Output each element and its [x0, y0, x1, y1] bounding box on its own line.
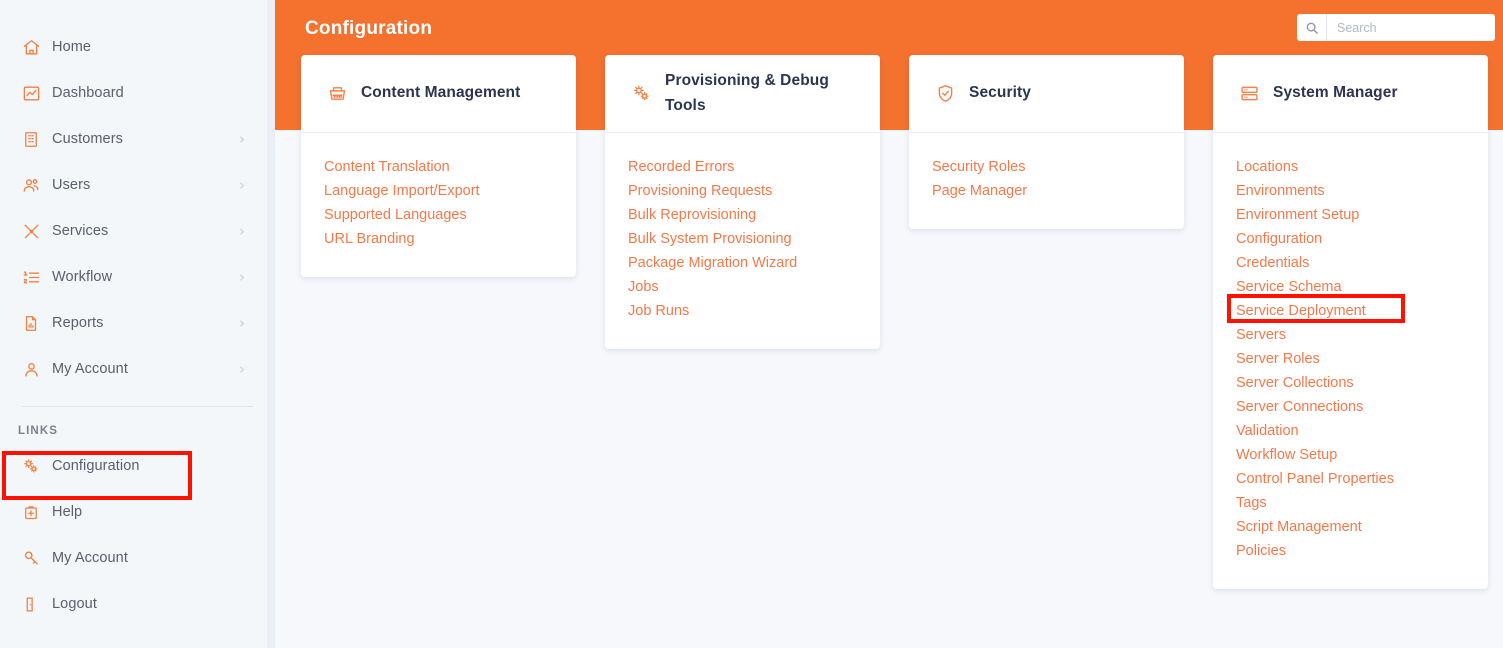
sidebar-item-my-account[interactable]: My Account ›: [0, 346, 275, 392]
report-icon: [18, 312, 44, 334]
card-link[interactable]: Environment Setup: [1236, 203, 1466, 227]
card-links: Locations Environments Environment Setup…: [1213, 133, 1488, 589]
card-title: Security: [969, 81, 1031, 106]
card-header: Security: [909, 55, 1184, 133]
sidebar-item-customers[interactable]: Customers ›: [0, 116, 275, 162]
sidebar: Home Dashboard Customers ›: [0, 0, 275, 648]
card-title: System Manager: [1273, 81, 1398, 106]
main-content: Configuration: [275, 0, 1503, 648]
card-link[interactable]: Package Migration Wizard: [628, 251, 858, 275]
sidebar-item-label: Customers: [52, 131, 123, 147]
sidebar-item-dashboard[interactable]: Dashboard: [0, 70, 275, 116]
sidebar-item-reports[interactable]: Reports ›: [0, 300, 275, 346]
sidebar-item-users[interactable]: Users ›: [0, 162, 275, 208]
card-link[interactable]: Page Manager: [932, 179, 1162, 203]
sidebar-link-label: Help: [52, 504, 82, 520]
sidebar-link-label: Logout: [52, 596, 97, 612]
card-link[interactable]: Security Roles: [932, 155, 1162, 179]
card-link[interactable]: Locations: [1236, 155, 1466, 179]
sidebar-link-my-account[interactable]: My Account: [0, 535, 275, 581]
logout-icon: [18, 593, 44, 615]
home-icon: [18, 36, 44, 58]
sidebar-item-label: Users: [52, 177, 90, 193]
card-link[interactable]: Service Schema: [1236, 275, 1466, 299]
sidebar-link-label: Configuration: [52, 458, 140, 474]
chevron-right-icon: ›: [239, 224, 257, 239]
shield-check-icon: [931, 83, 959, 104]
cards-container: Content Management Content Translation L…: [301, 55, 1503, 589]
sidebar-item-label: Reports: [52, 315, 103, 331]
card-link[interactable]: Bulk System Provisioning: [628, 227, 858, 251]
tools-icon: [18, 220, 44, 242]
users-icon: [18, 174, 44, 196]
card-link[interactable]: Servers: [1236, 323, 1466, 347]
card-link[interactable]: Bulk Reprovisioning: [628, 203, 858, 227]
card-provisioning-debug-tools: Provisioning & Debug Tools Recorded Erro…: [605, 55, 880, 349]
firstaid-icon: [18, 501, 44, 523]
chevron-right-icon: ›: [239, 178, 257, 193]
sidebar-item-label: Home: [52, 39, 91, 55]
card-links: Content Translation Language Import/Expo…: [301, 133, 576, 277]
card-link[interactable]: Validation: [1236, 419, 1466, 443]
card-link[interactable]: Tags: [1236, 491, 1466, 515]
chevron-right-icon: ›: [239, 316, 257, 331]
card-link[interactable]: Server Connections: [1236, 395, 1466, 419]
building-icon: [18, 128, 44, 150]
chevron-right-icon: ›: [239, 362, 257, 377]
sidebar-item-home[interactable]: Home: [0, 24, 275, 70]
card-link[interactable]: Policies: [1236, 539, 1466, 563]
app-root: Home Dashboard Customers ›: [0, 0, 1503, 648]
sidebar-link-label: My Account: [52, 550, 128, 566]
card-link[interactable]: Control Panel Properties: [1236, 467, 1466, 491]
card-link[interactable]: Workflow Setup: [1236, 443, 1466, 467]
card-link[interactable]: Supported Languages: [324, 203, 554, 227]
chevron-right-icon: ›: [239, 270, 257, 285]
card-title: Content Management: [361, 81, 520, 106]
card-link[interactable]: Jobs: [628, 275, 858, 299]
search-box[interactable]: [1297, 14, 1495, 41]
card-title: Provisioning & Debug Tools: [665, 69, 860, 119]
sidebar-item-services[interactable]: Services ›: [0, 208, 275, 254]
card-link[interactable]: Configuration: [1236, 227, 1466, 251]
chevron-right-icon: ›: [239, 132, 257, 147]
person-icon: [18, 358, 44, 380]
card-link[interactable]: Environments: [1236, 179, 1466, 203]
card-link[interactable]: Server Roles: [1236, 347, 1466, 371]
sidebar-item-label: Workflow: [52, 269, 112, 285]
sidebar-links-heading: LINKS: [0, 407, 275, 443]
card-link[interactable]: Credentials: [1236, 251, 1466, 275]
card-links: Security Roles Page Manager: [909, 133, 1184, 229]
card-header: Provisioning & Debug Tools: [605, 55, 880, 133]
card-link[interactable]: Recorded Errors: [628, 155, 858, 179]
card-link[interactable]: Script Management: [1236, 515, 1466, 539]
server-icon: [1235, 83, 1263, 104]
card-link[interactable]: Server Collections: [1236, 371, 1466, 395]
card-link[interactable]: Job Runs: [628, 299, 858, 323]
basket-icon: [323, 83, 351, 104]
page-title: Configuration: [305, 18, 432, 40]
key-icon: [18, 547, 44, 569]
card-link[interactable]: URL Branding: [324, 227, 554, 251]
sidebar-link-help[interactable]: Help: [0, 489, 275, 535]
sidebar-item-label: Services: [52, 223, 108, 239]
card-link[interactable]: Provisioning Requests: [628, 179, 858, 203]
card-links: Recorded Errors Provisioning Requests Bu…: [605, 133, 880, 349]
card-system-manager: System Manager Locations Environments En…: [1213, 55, 1488, 589]
gears-icon: [18, 455, 44, 477]
card-content-management: Content Management Content Translation L…: [301, 55, 576, 277]
search-icon: [1297, 14, 1327, 41]
list-icon: [18, 266, 44, 288]
sidebar-item-label: Dashboard: [52, 85, 124, 101]
gears-icon: [627, 83, 655, 104]
card-link[interactable]: Content Translation: [324, 155, 554, 179]
sidebar-item-label: My Account: [52, 361, 128, 377]
sidebar-link-logout[interactable]: Logout: [0, 581, 275, 627]
chart-icon: [18, 82, 44, 104]
search-input[interactable]: [1327, 15, 1495, 40]
card-link-service-deployment[interactable]: Service Deployment: [1236, 299, 1466, 323]
card-security: Security Security Roles Page Manager: [909, 55, 1184, 229]
card-header: System Manager: [1213, 55, 1488, 133]
sidebar-item-workflow[interactable]: Workflow ›: [0, 254, 275, 300]
sidebar-link-configuration[interactable]: Configuration: [0, 443, 275, 489]
card-header: Content Management: [301, 55, 576, 133]
card-link[interactable]: Language Import/Export: [324, 179, 554, 203]
service-deployment-highlight-box: [1227, 294, 1405, 323]
